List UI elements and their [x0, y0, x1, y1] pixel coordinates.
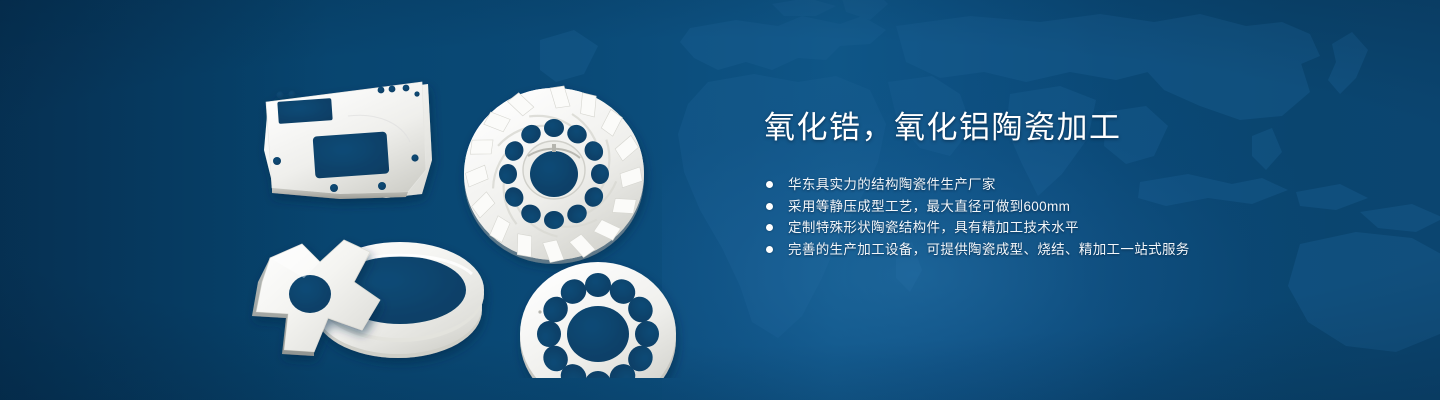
product-ceramic-perforated-disc — [520, 262, 676, 378]
bullet-dot-icon — [766, 203, 773, 210]
product-photo-group — [236, 42, 696, 378]
hero-banner: 氧化锆，氧化铝陶瓷加工 华东具实力的结构陶瓷件生产厂家 采用等静压成型工艺，最大… — [0, 0, 1440, 400]
list-item-label: 采用等静压成型工艺，最大直径可做到600mm — [788, 199, 1070, 214]
list-item: 华东具实力的结构陶瓷件生产厂家 — [764, 174, 1384, 196]
feature-list: 华东具实力的结构陶瓷件生产厂家 采用等静压成型工艺，最大直径可做到600mm 定… — [764, 174, 1384, 260]
list-item-label: 华东具实力的结构陶瓷件生产厂家 — [788, 177, 996, 192]
product-ceramic-plate — [264, 82, 432, 199]
bullet-dot-icon — [766, 224, 773, 231]
list-item: 定制特殊形状陶瓷结构件，具有精加工技术水平 — [764, 217, 1384, 239]
product-ceramic-impeller — [464, 86, 644, 264]
list-item-label: 完善的生产加工设备，可提供陶瓷成型、烧结、精加工一站式服务 — [788, 242, 1190, 257]
bullet-dot-icon — [766, 246, 773, 253]
list-item-label: 定制特殊形状陶瓷结构件，具有精加工技术水平 — [788, 220, 1079, 235]
bullet-dot-icon — [766, 181, 773, 188]
list-item: 完善的生产加工设备，可提供陶瓷成型、烧结、精加工一站式服务 — [764, 239, 1384, 261]
list-item: 采用等静压成型工艺，最大直径可做到600mm — [764, 196, 1384, 218]
banner-headline: 氧化锆，氧化铝陶瓷加工 — [764, 108, 1384, 148]
banner-copy: 氧化锆，氧化铝陶瓷加工 华东具实力的结构陶瓷件生产厂家 采用等静压成型工艺，最大… — [764, 108, 1384, 260]
